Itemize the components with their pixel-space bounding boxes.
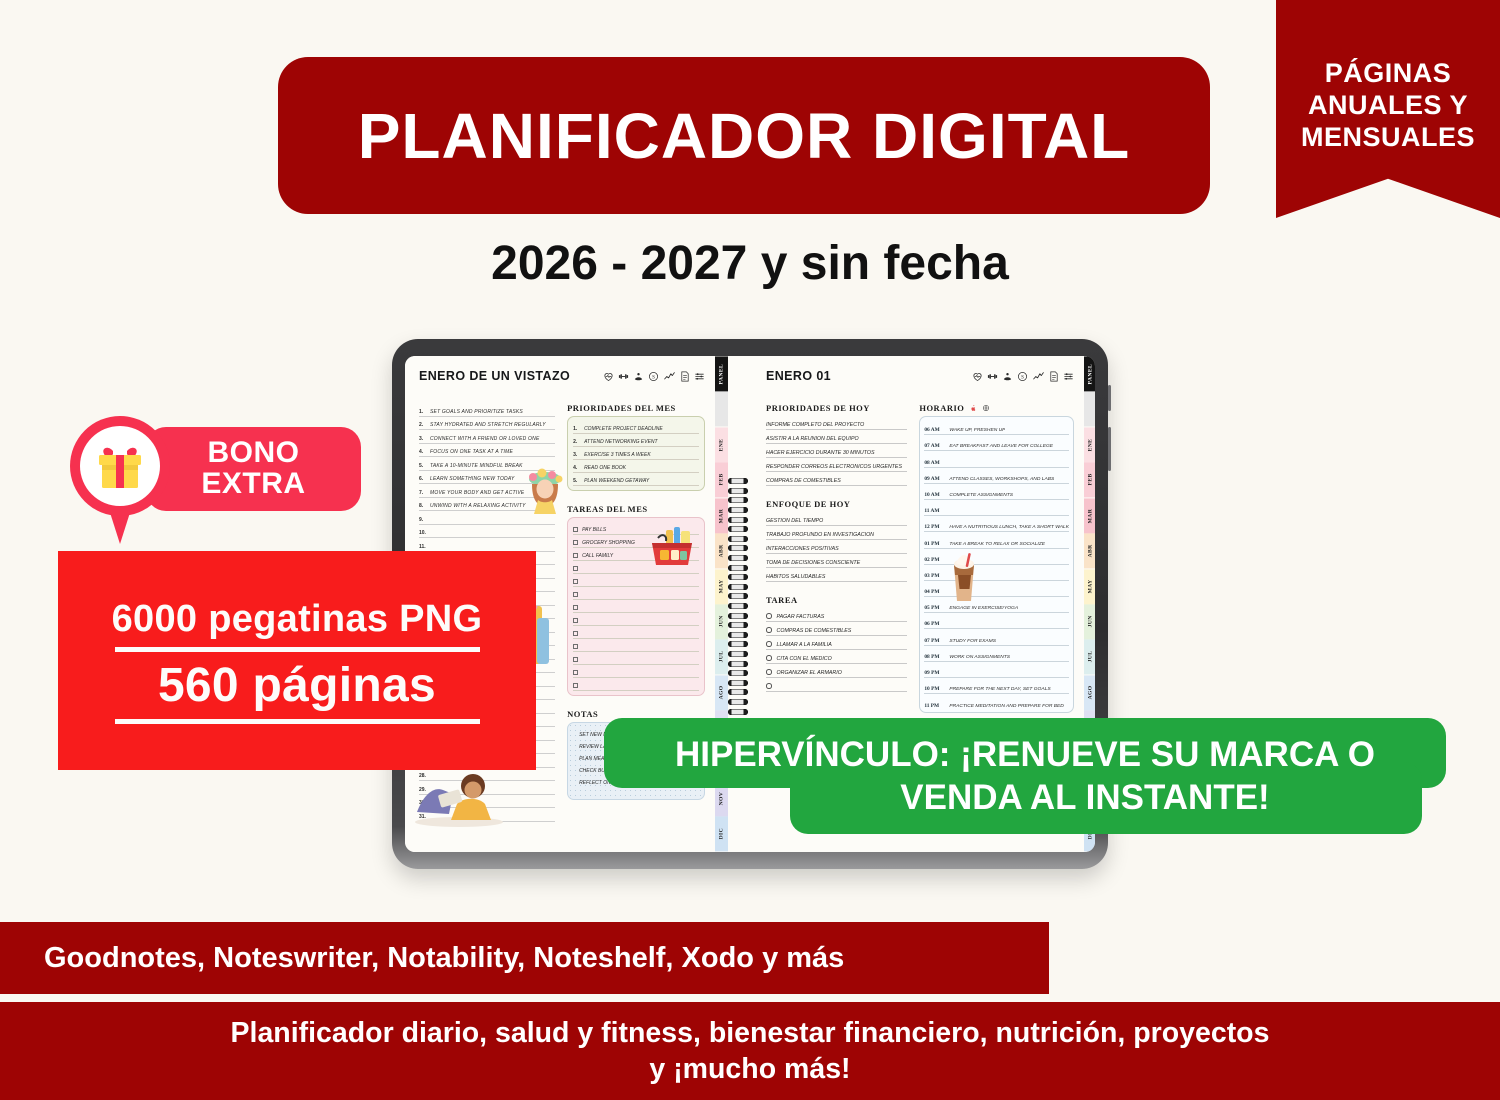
spiral-ring <box>728 517 748 523</box>
item-number: 1. <box>573 426 580 432</box>
schedule-event: COMPLETE ASSIGNMENTS <box>949 493 1013 498</box>
planner-icon-row-right: S <box>972 371 1074 382</box>
goal-list-item: 8.UNWIND WITH A RELAXING ACTIVITY <box>419 498 555 512</box>
priority-item: 2.ATTEND NETWORKING EVENT <box>573 434 699 447</box>
heart-pulse-icon[interactable] <box>972 371 983 382</box>
list-row: HACER EJERCICIO DURANTE 30 MINUTOS <box>766 444 907 458</box>
left-page-title: ENERO DE UN VISTAZO <box>419 369 570 383</box>
checkbox[interactable] <box>573 657 578 662</box>
radio-circle[interactable] <box>766 613 772 619</box>
list-row: COMPRAS DE COMESTIBLES <box>766 472 907 486</box>
month-tab-blank[interactable] <box>715 391 728 426</box>
item-text: CONNECT WITH A FRIEND OR LOVED ONE <box>430 436 540 442</box>
schedule-hour: 03 PM <box>924 573 944 579</box>
spiral-ring <box>728 661 748 667</box>
list-row: INFORME COMPLETO DEL PROYECTO <box>766 416 907 430</box>
schedule-event: WAKE UP, FRESHEN UP <box>949 428 1005 433</box>
schedule-hour: 10 AM <box>924 492 944 498</box>
product-listing-graphic: PÁGINAS ANUALES Y MENSUALES PLANIFICADOR… <box>0 0 1500 1100</box>
hyperlink-banner-text: HIPERVÍNCULO: ¡RENUEVE SU MARCA O VENDA … <box>604 718 1446 836</box>
spiral-ring <box>728 689 748 695</box>
task-item <box>573 574 699 587</box>
compatible-apps-label: Goodnotes, Noteswriter, Notability, Note… <box>44 942 844 975</box>
schedule-title: HORARIO <box>919 403 964 413</box>
monthly-tasks-list: PAY BILLSGROCERY SHOPPINGCALL FAMILY <box>573 522 699 691</box>
month-tab-feb[interactable]: FEB <box>1084 462 1095 497</box>
item-text: PAGAR FACTURAS <box>777 614 825 620</box>
task-row: COMPRAS DE COMESTIBLES <box>766 622 907 636</box>
stats-box: 6000 pegatinas PNG 560 páginas <box>58 551 536 770</box>
item-text: ORGANIZAR EL ARMARIO <box>777 670 842 676</box>
item-text: HACER EJERCICIO DURANTE 30 MINUTOS <box>766 450 875 456</box>
item-text: PLAN WEEKEND GETAWAY <box>584 478 649 484</box>
today-focus-title: ENFOQUE DE HOY <box>766 499 907 509</box>
item-text: ATTEND NETWORKING EVENT <box>584 439 658 445</box>
schedule-event: ENGAGE IN EXERCISE/YOGA <box>949 606 1018 611</box>
task-row: LLAMAR A LA FAMILIA <box>766 636 907 650</box>
schedule-row: 02 PM <box>924 549 1069 565</box>
task-item <box>573 652 699 665</box>
schedule-hour: 09 PM <box>924 670 944 676</box>
item-number: 2. <box>419 422 426 428</box>
schedule-hour: 10 PM <box>924 686 944 692</box>
schedule-hour: 12 PM <box>924 524 944 530</box>
features-line-1: Planificador diario, salud y fitness, bi… <box>231 1015 1270 1051</box>
document-icon[interactable] <box>680 371 690 382</box>
today-task-list: PAGAR FACTURASCOMPRAS DE COMESTIBLESLLAM… <box>766 608 907 692</box>
schedule-event: STUDY FOR EXAMS <box>949 639 996 644</box>
sliders-icon[interactable] <box>694 371 705 382</box>
schedule-hour: 04 PM <box>924 589 944 595</box>
month-tab-may[interactable]: MAY <box>715 569 728 604</box>
item-number: 4. <box>573 465 580 471</box>
item-text: READ ONE BOOK <box>584 465 626 471</box>
list-row: TOMA DE DECISIONES CONSCIENTE <box>766 554 907 568</box>
schedule-event: ATTEND CLASSES, WORKSHOPS, AND LABS <box>949 477 1054 482</box>
title-banner: PLANIFICADOR DIGITAL <box>278 57 1210 214</box>
schedule-event: PREPARE FOR THE NEXT DAY, SET GOALS <box>949 687 1050 692</box>
gift-icon <box>91 438 149 494</box>
goal-list-item: 10. <box>419 525 555 539</box>
month-tab-jun[interactable]: JUN <box>715 604 728 639</box>
item-text: RESPONDER CORREOS ELECTRONICOS URGENTES <box>766 464 902 470</box>
spiral-ring <box>728 632 748 638</box>
goal-list-item: 9. <box>419 511 555 525</box>
schedule-hour: 11 AM <box>924 508 944 514</box>
priority-item: 1.COMPLETE PROJECT DEADLINE <box>573 421 699 434</box>
task-item <box>573 613 699 626</box>
ribbon-line-3: MENSUALES <box>1301 122 1475 154</box>
page-title: PLANIFICADOR DIGITAL <box>358 99 1131 173</box>
wellness-icon[interactable] <box>633 371 644 382</box>
task-item <box>573 587 699 600</box>
item-number: 5. <box>573 478 580 484</box>
checkbox[interactable] <box>573 631 578 636</box>
checkbox[interactable] <box>573 618 578 623</box>
schedule-hour: 07 AM <box>924 443 944 449</box>
month-tab-jun[interactable]: JUN <box>1084 604 1095 639</box>
spiral-ring <box>728 488 748 494</box>
tasks-section-title: TAREAS DEL MES <box>567 504 705 514</box>
goal-list-item: 2.STAY HYDRATED AND STRETCH REGULARLY <box>419 417 555 431</box>
schedule-row: 07 AMEAT BREAKFAST AND LEAVE FOR COLLEGE <box>924 435 1069 451</box>
daily-schedule-card: 06 AMWAKE UP, FRESHEN UP07 AMEAT BREAKFA… <box>919 416 1074 713</box>
task-item <box>573 639 699 652</box>
sliders-icon[interactable] <box>1063 371 1074 382</box>
corner-ribbon-annual-monthly: PÁGINAS ANUALES Y MENSUALES <box>1276 0 1500 218</box>
item-number: 6. <box>419 476 426 482</box>
task-item: GROCERY SHOPPING <box>573 535 699 548</box>
task-item <box>573 626 699 639</box>
item-number: 28. <box>419 773 426 779</box>
ribbon-line-2: ANUALES Y <box>1301 90 1475 122</box>
right-column-schedule: HORARIO <box>919 403 1074 713</box>
schedule-hour: 11 PM <box>924 703 944 709</box>
schedule-row: 07 PMSTUDY FOR EXAMS <box>924 629 1069 645</box>
item-number: 30. <box>419 800 426 806</box>
month-tab-panel[interactable]: PANEL <box>715 356 728 391</box>
item-number: 7. <box>419 490 426 496</box>
item-number: 3. <box>419 436 426 442</box>
checkbox[interactable] <box>573 592 578 597</box>
item-text: TRABAJO PROFUNDO EN INVESTIGACION <box>766 532 874 538</box>
spiral-ring <box>728 699 748 705</box>
item-text: COMPLETE PROJECT DEADLINE <box>584 426 663 432</box>
task-item <box>573 561 699 574</box>
right-page-title: ENERO 01 <box>766 369 831 383</box>
item-number: 5. <box>419 463 426 469</box>
stats-divider-bottom <box>115 719 480 724</box>
goal-list-item: 5.TAKE A 10-MINUTE MINDFUL BREAK <box>419 457 555 471</box>
item-text: LLAMAR A LA FAMILIA <box>777 642 832 648</box>
list-row: RESPONDER CORREOS ELECTRONICOS URGENTES <box>766 458 907 472</box>
schedule-row: 09 AMATTEND CLASSES, WORKSHOPS, AND LABS <box>924 468 1069 484</box>
spiral-ring <box>728 593 748 599</box>
checkbox[interactable] <box>573 579 578 584</box>
left-page-header: ENERO DE UN VISTAZO S <box>419 369 705 383</box>
schedule-hour: 02 PM <box>924 557 944 563</box>
dollar-circle-icon[interactable]: S <box>648 371 659 382</box>
item-text: MOVE YOUR BODY AND GET ACTIVE <box>430 490 524 496</box>
goal-list-item: 11. <box>419 538 555 552</box>
item-text: FOCUS ON ONE TASK AT A TIME <box>430 449 513 455</box>
task-row <box>766 678 907 692</box>
month-tab-ene[interactable]: ENE <box>715 427 728 462</box>
priority-item: 4.READ ONE BOOK <box>573 460 699 473</box>
schedule-row: 10 AMCOMPLETE ASSIGNMENTS <box>924 484 1069 500</box>
task-item: CALL FAMILY <box>573 548 699 561</box>
goal-list-item: 29. <box>419 781 555 795</box>
right-column-lists: PRIORIDADES DE HOY INFORME COMPLETO DEL … <box>766 403 907 713</box>
list-row: GESTION DEL TIEMPO <box>766 512 907 526</box>
tablet-volume-button <box>1108 427 1111 471</box>
schedule-event: PRACTICE MEDITATION AND PREPARE FOR BED <box>949 704 1064 709</box>
ribbon-line-1: PÁGINAS <box>1301 58 1475 90</box>
schedule-row: 08 AM <box>924 451 1069 467</box>
item-number: 29. <box>419 787 426 793</box>
month-tab-may[interactable]: MAY <box>1084 569 1095 604</box>
item-number: 1. <box>419 409 426 415</box>
goal-list-item: 4.FOCUS ON ONE TASK AT A TIME <box>419 444 555 458</box>
item-text: STAY HYDRATED AND STRETCH REGULARLY <box>430 422 546 428</box>
stats-divider-top <box>115 647 480 652</box>
schedule-row: 05 PMENGAGE IN EXERCISE/YOGA <box>924 597 1069 613</box>
item-text: INFORME COMPLETO DEL PROYECTO <box>766 422 864 428</box>
checkbox[interactable] <box>573 553 578 558</box>
item-number: 11. <box>419 544 426 550</box>
features-line-2: y ¡mucho más! <box>649 1051 850 1087</box>
month-tab-feb[interactable]: FEB <box>715 462 728 497</box>
schedule-hour: 07 PM <box>924 638 944 644</box>
schedule-row: 09 PM <box>924 662 1069 678</box>
schedule-event: HAVE A NUTRITIOUS LUNCH, TAKE A SHORT WA… <box>949 525 1069 530</box>
chart-line-icon[interactable] <box>1032 371 1045 382</box>
item-text: LEARN SOMETHING NEW TODAY <box>430 476 515 482</box>
month-tab-abr[interactable]: ABR <box>1084 533 1095 568</box>
month-tab-jul[interactable]: JUL <box>1084 639 1095 674</box>
spiral-ring <box>728 651 748 657</box>
task-item: PAY BILLS <box>573 522 699 535</box>
schedule-row: 06 PM <box>924 613 1069 629</box>
checkbox[interactable] <box>573 683 578 688</box>
right-page-columns: PRIORIDADES DE HOY INFORME COMPLETO DEL … <box>766 403 1074 713</box>
priority-item: 3.EXERCISE 3 TIMES A WEEK <box>573 447 699 460</box>
dumbbell-icon[interactable] <box>987 371 998 382</box>
ribbon-text: PÁGINAS ANUALES Y MENSUALES <box>1301 58 1475 154</box>
item-text: GROCERY SHOPPING <box>582 540 635 546</box>
spiral-ring <box>728 507 748 513</box>
month-tab-ene[interactable]: ENE <box>1084 427 1095 462</box>
spiral-ring <box>728 478 748 484</box>
task-item <box>573 678 699 691</box>
schedule-event: EAT BREAKFAST AND LEAVE FOR COLLEGE <box>949 444 1053 449</box>
checkbox[interactable] <box>573 566 578 571</box>
schedule-hour: 06 AM <box>924 427 944 433</box>
bono-extra-badge: BONO EXTRA <box>63 416 363 566</box>
tablet-side-button <box>1108 385 1111 411</box>
planner-icon-row-left: S <box>603 371 705 382</box>
item-text: UNWIND WITH A RELAXING ACTIVITY <box>430 503 526 509</box>
item-text: PAY BILLS <box>582 527 606 533</box>
list-row: INTERACCIONES POSITIVAS <box>766 540 907 554</box>
schedule-row: 11 AM <box>924 500 1069 516</box>
schedule-event: TAKE A BREAK TO RELAX OR SOCIALIZE <box>949 542 1045 547</box>
task-row: ORGANIZAR EL ARMARIO <box>766 664 907 678</box>
checkbox[interactable] <box>573 605 578 610</box>
checkbox[interactable] <box>573 527 578 532</box>
schedule-row: 08 PMWORK ON ASSIGNMENTS <box>924 646 1069 662</box>
dumbbell-icon[interactable] <box>618 371 629 382</box>
hyperlink-line-1: HIPERVÍNCULO: ¡RENUEVE SU MARCA O <box>675 734 1375 777</box>
schedule-row: 12 PMHAVE A NUTRITIOUS LUNCH, TAKE A SHO… <box>924 516 1069 532</box>
item-text: COMPRAS DE COMESTIBLES <box>766 478 841 484</box>
checkbox[interactable] <box>573 670 578 675</box>
schedule-event: WORK ON ASSIGNMENTS <box>949 655 1010 660</box>
goal-list-item: 31. <box>419 808 555 822</box>
item-text: CITA CON EL MEDICO <box>777 656 832 662</box>
item-number: 9. <box>419 517 426 523</box>
compatible-apps-bar: Goodnotes, Noteswriter, Notability, Note… <box>0 922 1049 994</box>
spiral-ring <box>728 536 748 542</box>
goal-list-item: 30. <box>419 795 555 809</box>
svg-text:S: S <box>652 374 655 380</box>
month-tab-ago[interactable]: AGO <box>1084 675 1095 710</box>
item-text: EXERCISE 3 TIMES A WEEK <box>584 452 651 458</box>
schedule-row: 03 PM <box>924 565 1069 581</box>
schedule-row: 11 PMPRACTICE MEDITATION AND PREPARE FOR… <box>924 694 1069 710</box>
dollar-circle-icon[interactable]: S <box>1017 371 1028 382</box>
bono-pin-marker <box>70 416 170 544</box>
radio-circle[interactable] <box>766 683 772 689</box>
pages-count-label: 560 páginas <box>158 658 436 713</box>
month-tab-mar[interactable]: MAR <box>1084 498 1095 533</box>
item-number: 10. <box>419 530 426 536</box>
schedule-hour: 06 PM <box>924 621 944 627</box>
schedule-title-row: HORARIO <box>919 403 1074 413</box>
svg-text:S: S <box>1021 374 1024 380</box>
spiral-ring <box>728 584 748 590</box>
item-text: HABITOS SALUDABLES <box>766 574 825 580</box>
bono-line-2: EXTRA <box>201 469 305 500</box>
radio-circle[interactable] <box>766 627 772 633</box>
monthly-priorities-card: 1.COMPLETE PROJECT DEADLINE2.ATTEND NETW… <box>567 416 705 491</box>
today-priorities-list: INFORME COMPLETO DEL PROYECTOASISTIR A L… <box>766 416 907 486</box>
month-tab-mar[interactable]: MAR <box>715 498 728 533</box>
monthly-tasks-card: PAY BILLSGROCERY SHOPPINGCALL FAMILY <box>567 517 705 696</box>
spiral-ring <box>728 622 748 628</box>
stickers-count-label: 6000 pegatinas PNG <box>112 598 483 641</box>
task-row: CITA CON EL MEDICO <box>766 650 907 664</box>
spiral-ring <box>728 555 748 561</box>
today-priorities-title: PRIORIDADES DE HOY <box>766 403 907 413</box>
item-number: 2. <box>573 439 580 445</box>
item-text: TOMA DE DECISIONES CONSCIENTE <box>766 560 860 566</box>
spiral-ring <box>728 497 748 503</box>
schedule-hour: 05 PM <box>924 605 944 611</box>
goal-list-item: 1.SET GOALS AND PRIORITIZE TASKS <box>419 403 555 417</box>
month-tab-abr[interactable]: ABR <box>715 533 728 568</box>
hyperlink-line-2: VENDA AL INSTANTE! <box>900 777 1269 820</box>
subtitle: 2026 - 2027 y sin fecha <box>0 236 1500 291</box>
today-task-title: TAREA <box>766 595 907 605</box>
pin-inner-circle <box>80 426 160 506</box>
today-focus-list: GESTION DEL TIEMPOTRABAJO PROFUNDO EN IN… <box>766 512 907 582</box>
item-number: 3. <box>573 452 580 458</box>
spiral-ring <box>728 565 748 571</box>
item-text: COMPRAS DE COMESTIBLES <box>777 628 852 634</box>
schedule-row: 01 PMTAKE A BREAK TO RELAX OR SOCIALIZE <box>924 532 1069 548</box>
chart-line-icon[interactable] <box>663 371 676 382</box>
list-row: ASISTIR A LA REUNION DEL EQUIPO <box>766 430 907 444</box>
bono-pill: BONO EXTRA <box>146 427 361 511</box>
item-number: 31. <box>419 814 426 820</box>
schedule-hour: 01 PM <box>924 541 944 547</box>
task-item <box>573 600 699 613</box>
right-page-header: ENERO 01 S <box>766 369 1074 383</box>
goal-list-item: 7.MOVE YOUR BODY AND GET ACTIVE <box>419 484 555 498</box>
item-number: 8. <box>419 503 426 509</box>
spiral-ring <box>728 574 748 580</box>
schedule-row: 10 PMPREPARE FOR THE NEXT DAY, SET GOALS <box>924 678 1069 694</box>
item-text: ASISTIR A LA REUNION DEL EQUIPO <box>766 436 859 442</box>
item-text: TAKE A 10-MINUTE MINDFUL BREAK <box>430 463 523 469</box>
radio-circle[interactable] <box>766 641 772 647</box>
document-icon[interactable] <box>1049 371 1059 382</box>
task-row: PAGAR FACTURAS <box>766 608 907 622</box>
spiral-ring <box>728 670 748 676</box>
month-tab-blank[interactable] <box>1084 391 1095 426</box>
priority-item: 5.PLAN WEEKEND GETAWAY <box>573 473 699 486</box>
goal-list-item: 3.CONNECT WITH A FRIEND OR LOVED ONE <box>419 430 555 444</box>
item-text: CALL FAMILY <box>582 553 613 559</box>
schedule-row: 04 PM <box>924 581 1069 597</box>
month-tab-panel[interactable]: PANEL <box>1084 356 1095 391</box>
features-bar: Planificador diario, salud y fitness, bi… <box>0 1002 1500 1100</box>
radio-circle[interactable] <box>766 669 772 675</box>
checkbox[interactable] <box>573 540 578 545</box>
month-tab-jul[interactable]: JUL <box>715 639 728 674</box>
checkbox[interactable] <box>573 644 578 649</box>
spiral-ring <box>728 526 748 532</box>
spiral-ring <box>728 613 748 619</box>
spiral-ring <box>728 709 748 715</box>
item-number: 4. <box>419 449 426 455</box>
bono-line-1: BONO <box>208 438 300 469</box>
list-row: TRABAJO PROFUNDO EN INVESTIGACION <box>766 526 907 540</box>
item-text: SET GOALS AND PRIORITIZE TASKS <box>430 409 523 415</box>
spiral-ring <box>728 545 748 551</box>
schedule-row: 06 AMWAKE UP, FRESHEN UP <box>924 419 1069 435</box>
wellness-icon[interactable] <box>1002 371 1013 382</box>
globe-icon <box>982 404 990 412</box>
radio-circle[interactable] <box>766 655 772 661</box>
heart-pulse-icon[interactable] <box>603 371 614 382</box>
month-tab-ago[interactable]: AGO <box>715 675 728 710</box>
spiral-ring <box>728 603 748 609</box>
schedule-hour: 08 AM <box>924 460 944 466</box>
schedule-hour: 09 AM <box>924 476 944 482</box>
item-text: GESTION DEL TIEMPO <box>766 518 823 524</box>
monthly-priorities-list: 1.COMPLETE PROJECT DEADLINE2.ATTEND NETW… <box>573 421 699 486</box>
item-text: INTERACCIONES POSITIVAS <box>766 546 839 552</box>
schedule-hour: 08 PM <box>924 654 944 660</box>
priorities-section-title: PRIORIDADES DEL MES <box>567 403 705 413</box>
task-item <box>573 665 699 678</box>
spiral-ring <box>728 641 748 647</box>
apple-icon <box>969 404 977 412</box>
spiral-ring <box>728 680 748 686</box>
list-row: HABITOS SALUDABLES <box>766 568 907 582</box>
goal-list-item: 6.LEARN SOMETHING NEW TODAY <box>419 471 555 485</box>
